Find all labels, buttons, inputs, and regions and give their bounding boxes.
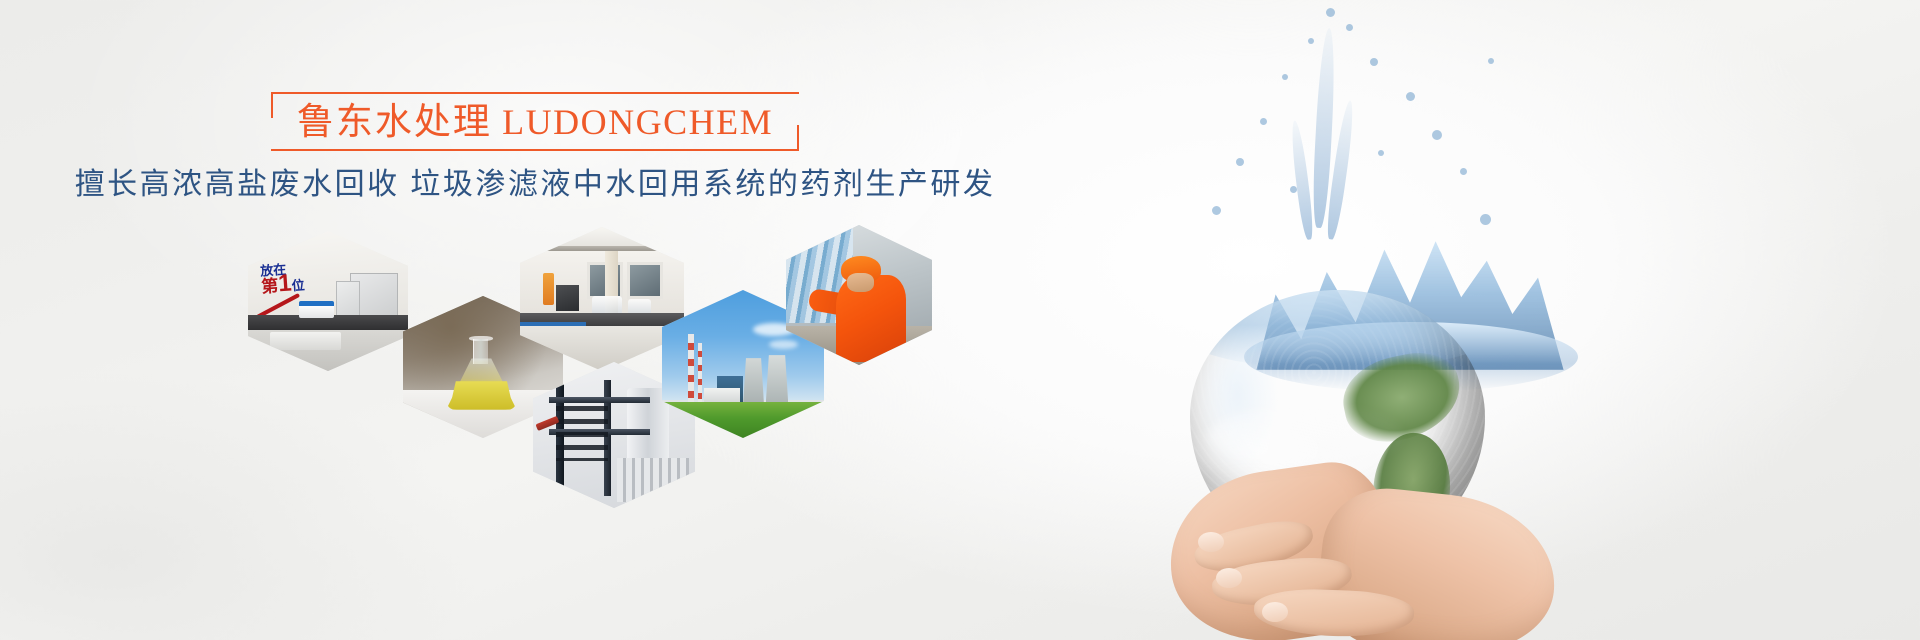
lab-room-photo: 放在 第1位 [248,231,408,371]
holding-hands [1170,430,1530,640]
hexagon-photo-lab-room[interactable]: 放在 第1位 [248,231,408,371]
hero-water-globe [1020,0,1640,640]
hexagon-photo-gallery: 放在 第1位 [0,0,1000,640]
